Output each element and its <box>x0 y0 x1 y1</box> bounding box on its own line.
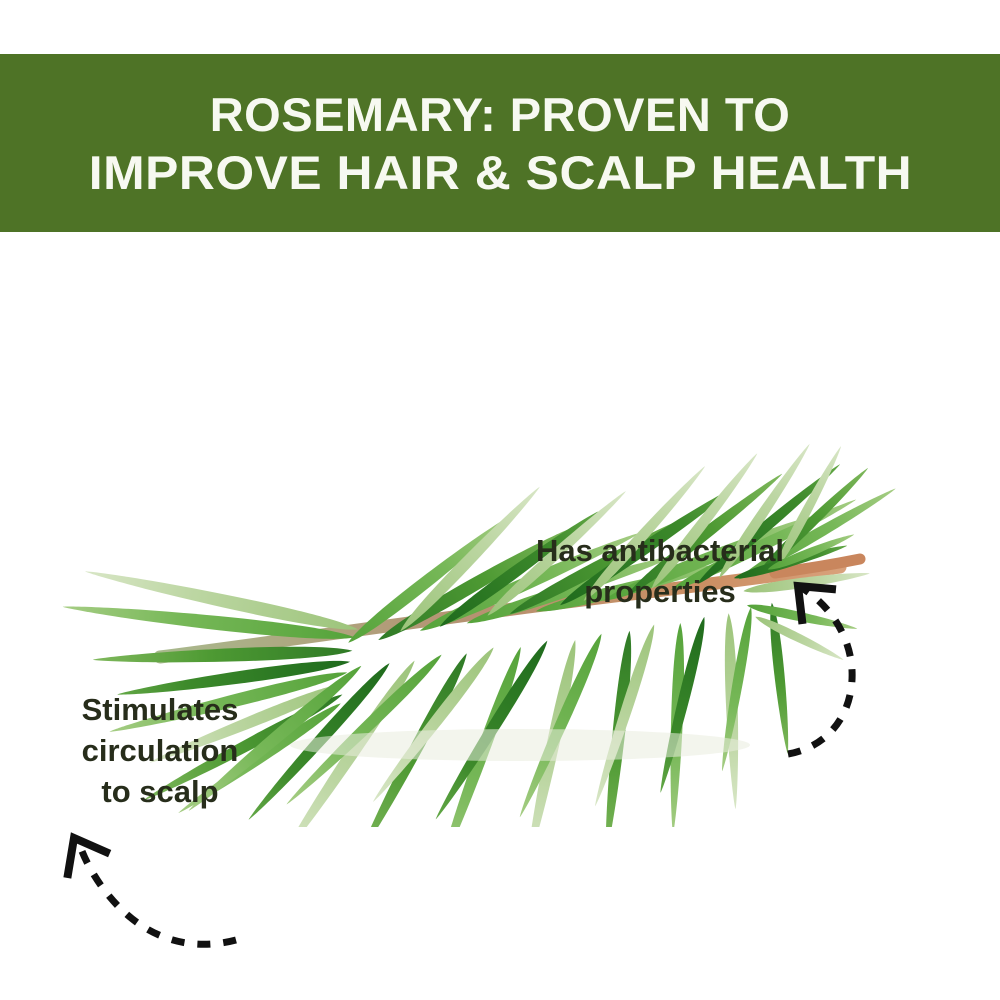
header-banner: ROSEMARY: PROVEN TO IMPROVE HAIR & SCALP… <box>0 54 1000 232</box>
page-title-line-1: ROSEMARY: PROVEN TO <box>210 91 791 138</box>
annotation-circulation-line-3: to scalp <box>50 771 270 812</box>
sprig-shadow <box>290 729 750 761</box>
photo-stage: Has antibacterial properties Stimulates … <box>0 232 1000 1000</box>
arrow-circulation-icon <box>40 812 250 962</box>
annotation-label-circulation: Stimulates circulation to scalp <box>50 689 270 813</box>
arrow-antibacterial-icon <box>740 562 900 772</box>
infographic-page: ROSEMARY: PROVEN TO IMPROVE HAIR & SCALP… <box>0 0 1000 1000</box>
page-title-line-2: IMPROVE HAIR & SCALP HEALTH <box>88 149 911 196</box>
annotation-circulation-line-1: Stimulates <box>50 689 270 730</box>
annotation-circulation-line-2: circulation <box>50 730 270 771</box>
